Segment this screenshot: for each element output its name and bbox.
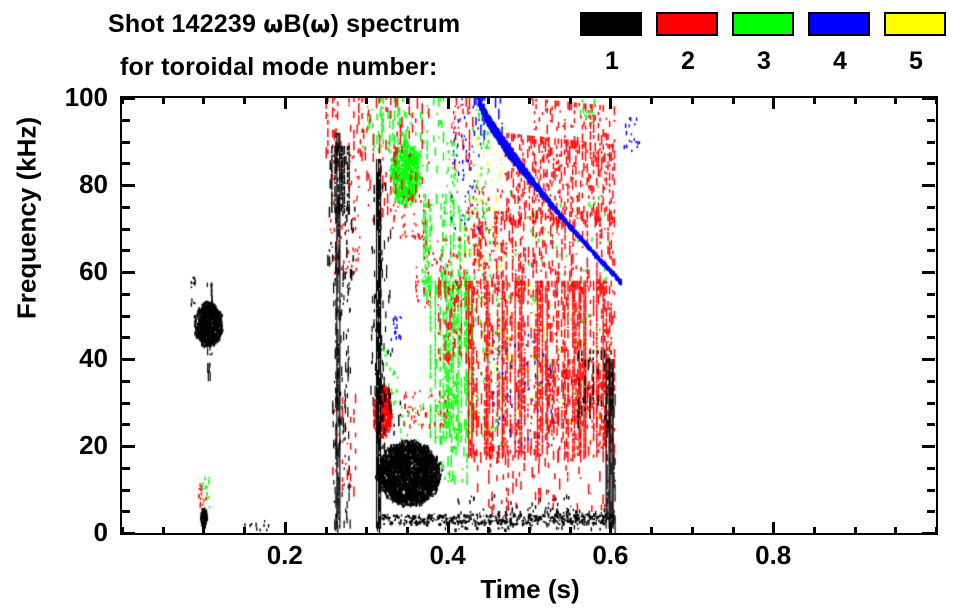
y-tick-minor: [122, 249, 130, 252]
y-tick-minor-right: [927, 336, 935, 339]
x-tick-minor-top: [528, 96, 531, 104]
x-tick-label-0.2: 0.2: [240, 542, 330, 568]
y-tick-minor-right: [927, 249, 935, 252]
y-tick-minor: [122, 293, 130, 296]
y-tick-minor: [122, 402, 130, 405]
x-tick-minor-top: [732, 96, 735, 104]
legend-swatch-yellow: [884, 12, 946, 36]
spectrogram-canvas: [122, 98, 936, 533]
y-tick-minor: [122, 228, 130, 231]
y-tick-minor-right: [927, 119, 935, 122]
x-tick-minor: [691, 527, 694, 535]
y-tick-minor-right: [927, 467, 935, 470]
omega-symbol-1: ω: [263, 12, 283, 38]
legend-entry-2[interactable]: 2: [656, 12, 720, 74]
y-tick-minor-right: [927, 510, 935, 513]
x-tick-major-top-0.2: [284, 96, 287, 109]
y-tick-major-right-60: [922, 271, 935, 274]
x-tick-minor: [569, 527, 572, 535]
x-tick-major-0.6: [609, 522, 612, 535]
x-tick-minor: [732, 527, 735, 535]
legend-label-2: 2: [656, 49, 720, 74]
plot-area: [122, 98, 936, 533]
legend-label-3: 3: [732, 49, 796, 74]
x-tick-minor-top: [854, 96, 857, 104]
x-tick-label-0.6: 0.6: [565, 542, 655, 568]
y-tick-minor-right: [927, 162, 935, 165]
legend: 12345: [580, 12, 960, 92]
y-tick-minor: [122, 510, 130, 513]
x-tick-minor-top: [365, 96, 368, 104]
legend-label-5: 5: [884, 49, 948, 74]
x-tick-minor-top: [487, 96, 490, 104]
omega-symbol-2: ω: [310, 12, 330, 38]
x-tick-minor-top: [325, 96, 328, 104]
y-tick-minor-right: [927, 489, 935, 492]
x-tick-minor-top: [121, 96, 124, 104]
legend-entry-3[interactable]: 3: [732, 12, 796, 74]
y-tick-minor: [122, 315, 130, 318]
x-tick-major-top-0.8: [772, 96, 775, 109]
y-tick-major-80: [122, 184, 135, 187]
x-tick-minor: [121, 527, 124, 535]
y-tick-minor-right: [927, 141, 935, 144]
y-tick-major-right-20: [922, 445, 935, 448]
x-tick-major-0.4: [447, 522, 450, 535]
y-tick-minor: [122, 423, 130, 426]
y-tick-minor-right: [927, 402, 935, 405]
y-tick-minor-right: [927, 206, 935, 209]
y-tick-label-20: 20: [0, 432, 108, 458]
y-tick-major-right-100: [922, 97, 935, 100]
y-tick-minor-right: [927, 380, 935, 383]
y-tick-major-20: [122, 445, 135, 448]
x-tick-major-top-0.6: [609, 96, 612, 109]
y-tick-major-40: [122, 358, 135, 361]
page-title: Shot 142239 ωB(ω) spectrum: [108, 10, 460, 39]
x-tick-minor: [365, 527, 368, 535]
x-tick-minor-top: [162, 96, 165, 104]
legend-entry-1[interactable]: 1: [580, 12, 644, 74]
x-tick-minor: [406, 527, 409, 535]
x-tick-minor-top: [935, 96, 938, 104]
y-tick-major-60: [122, 271, 135, 274]
y-tick-minor: [122, 467, 130, 470]
x-tick-minor-top: [813, 96, 816, 104]
legend-label-4: 4: [808, 49, 872, 74]
title-prefix: Shot 142239: [108, 10, 263, 38]
y-tick-minor: [122, 489, 130, 492]
title-suffix: ) spectrum: [330, 10, 460, 38]
x-tick-minor: [162, 527, 165, 535]
x-tick-major-0.2: [284, 522, 287, 535]
title-mid: B(: [283, 10, 310, 38]
legend-swatch-blue: [808, 12, 870, 36]
x-tick-minor-top: [691, 96, 694, 104]
x-tick-label-0.8: 0.8: [728, 542, 818, 568]
y-tick-major-right-40: [922, 358, 935, 361]
y-tick-minor-right: [927, 293, 935, 296]
x-tick-minor-top: [243, 96, 246, 104]
x-tick-minor: [650, 527, 653, 535]
x-tick-major-0.8: [772, 522, 775, 535]
y-tick-major-right-0: [922, 532, 935, 535]
y-tick-minor: [122, 119, 130, 122]
legend-swatch-red: [656, 12, 718, 36]
x-tick-minor-top: [894, 96, 897, 104]
y-tick-minor-right: [927, 423, 935, 426]
y-tick-major-right-80: [922, 184, 935, 187]
y-tick-minor: [122, 141, 130, 144]
y-axis-label: Frequency (kHz): [12, 78, 43, 358]
y-tick-minor-right: [927, 228, 935, 231]
x-tick-minor-top: [406, 96, 409, 104]
title-subtitle: for toroidal mode number:: [120, 53, 438, 82]
x-tick-major-top-0.4: [447, 96, 450, 109]
x-tick-minor: [935, 527, 938, 535]
x-tick-minor: [854, 527, 857, 535]
x-tick-minor: [894, 527, 897, 535]
x-tick-minor: [325, 527, 328, 535]
y-tick-minor: [122, 380, 130, 383]
x-tick-minor-top: [569, 96, 572, 104]
legend-swatch-black: [580, 12, 642, 36]
legend-entry-5[interactable]: 5: [884, 12, 948, 74]
legend-label-1: 1: [580, 49, 644, 74]
y-tick-minor-right: [927, 315, 935, 318]
y-tick-minor: [122, 336, 130, 339]
x-tick-minor: [243, 527, 246, 535]
spectrogram-figure: Shot 142239 ωB(ω) spectrum for toroidal …: [0, 0, 963, 615]
x-axis-label: Time (s): [122, 574, 938, 605]
x-tick-minor-top: [202, 96, 205, 104]
y-tick-minor: [122, 162, 130, 165]
y-tick-minor: [122, 206, 130, 209]
x-tick-minor: [528, 527, 531, 535]
x-tick-label-0.4: 0.4: [403, 542, 493, 568]
x-tick-minor-top: [650, 96, 653, 104]
legend-entry-4[interactable]: 4: [808, 12, 872, 74]
x-tick-minor: [813, 527, 816, 535]
legend-swatch-green: [732, 12, 794, 36]
y-tick-label-0: 0: [0, 519, 108, 545]
x-tick-minor: [202, 527, 205, 535]
x-tick-minor: [487, 527, 490, 535]
